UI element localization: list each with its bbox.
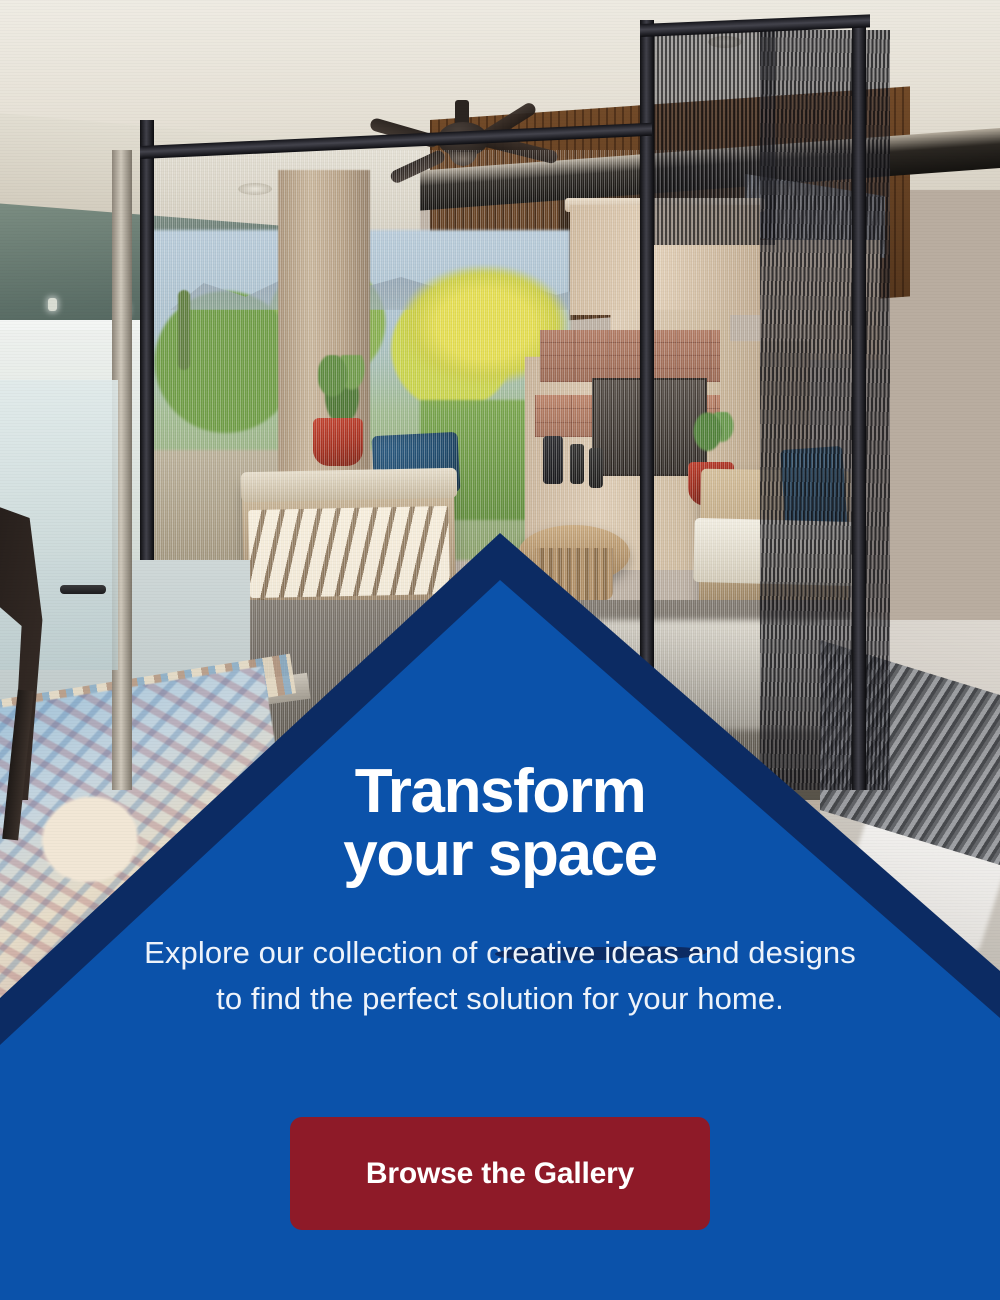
headline-underlined-word: space (488, 820, 657, 889)
cta-container: Browse the Gallery (0, 1117, 1000, 1230)
headline-line-1: Transform (355, 757, 646, 826)
hero-content: Transform your space Explore our collect… (0, 0, 1000, 1300)
page-title: Transform your space (0, 760, 1000, 886)
browse-gallery-button[interactable]: Browse the Gallery (290, 1117, 710, 1230)
headline-line-2-prefix: your (343, 820, 488, 889)
hero-body-text: Explore our collection of creative ideas… (140, 930, 860, 1022)
hero-banner: Transform your space Explore our collect… (0, 0, 1000, 1300)
headline-line-2: your space (343, 823, 656, 886)
